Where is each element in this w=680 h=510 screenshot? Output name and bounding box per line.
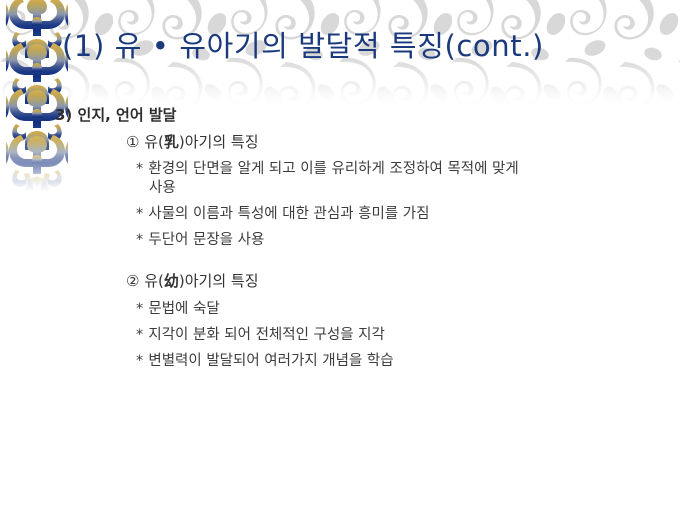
bullet-marker: * xyxy=(136,161,144,177)
bullet-text: 지각이 분화 되어 전체적인 구성을 지각 xyxy=(148,327,384,343)
bullet-marker: * xyxy=(136,327,144,343)
section-2-bullet-2: * 지각이 분화 되어 전체적인 구성을 지각 xyxy=(136,326,385,345)
bullet-marker: * xyxy=(136,232,144,248)
bullet-text: 환경의 단면을 알게 되고 이를 유리하게 조정하여 목적에 맞게 xyxy=(148,161,518,177)
section-1-hanja: 乳 xyxy=(164,133,179,151)
bullet-marker: * xyxy=(136,206,144,222)
section-2-suffix: )아기의 특징 xyxy=(179,272,259,290)
section-1-label: ① 유(乳)아기의 특징 xyxy=(126,133,259,152)
section-1-suffix: )아기의 특징 xyxy=(179,133,259,151)
section-1-bullet-1-wrap: 사용 xyxy=(149,179,176,198)
section-1-marker: ① xyxy=(126,133,139,151)
bullet-text: 문법에 숙달 xyxy=(148,301,219,317)
body-heading: 3) 인지, 언어 발달 xyxy=(55,106,176,125)
section-2-bullet-1: * 문법에 숙달 xyxy=(136,300,220,319)
section-2-label: ② 유(幼)아기의 특징 xyxy=(126,272,259,291)
section-1-bullet-1: * 환경의 단면을 알게 되고 이를 유리하게 조정하여 목적에 맞게 xyxy=(136,160,519,179)
bullet-marker: * xyxy=(136,301,144,317)
bullet-marker: * xyxy=(136,353,144,369)
section-2-prefix: 유( xyxy=(144,272,164,290)
bullet-text: 두단어 문장을 사용 xyxy=(148,232,264,248)
bullet-text: 사물의 이름과 특성에 대한 관심과 흥미를 가짐 xyxy=(148,206,429,222)
section-1-bullet-2: * 사물의 이름과 특성에 대한 관심과 흥미를 가짐 xyxy=(136,205,429,224)
section-1-prefix: 유( xyxy=(144,133,164,151)
bullet-text: 변별력이 발달되어 여러가지 개념을 학습 xyxy=(148,353,393,369)
section-2-hanja: 幼 xyxy=(164,272,179,290)
slide-title: (1) 유 • 유아기의 발달적 특징(cont.) xyxy=(62,26,672,66)
section-1-bullet-3: * 두단어 문장을 사용 xyxy=(136,231,264,250)
section-2-marker: ② xyxy=(126,272,139,290)
section-2-bullet-3: * 변별력이 발달되어 여러가지 개념을 학습 xyxy=(136,352,394,371)
presentation-slide: (1) 유 • 유아기의 발달적 특징(cont.) 3) 인지, 언어 발달 … xyxy=(0,0,680,510)
vertical-arabesque-ornament-icon xyxy=(4,0,70,192)
